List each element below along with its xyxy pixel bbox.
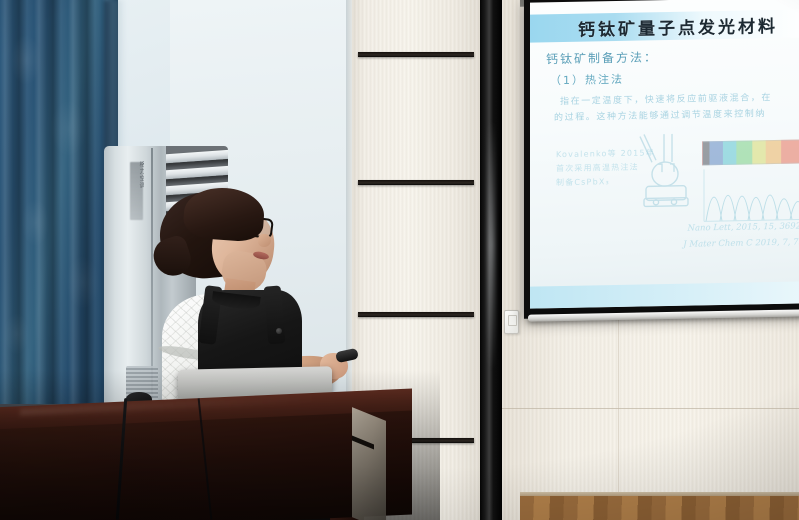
slide-footer-band	[530, 281, 799, 308]
photo-scene: 格力空调 钙钛矿量子点发光材料 钙钛矿制备	[0, 0, 799, 520]
projection-screen-frame: 钙钛矿量子点发光材料 钙钛矿制备方法： （1）热注法 指在一定温度下，快速将反应…	[524, 0, 799, 319]
door-inlay-stripe	[358, 180, 474, 185]
vent-slat	[166, 149, 228, 163]
slide-subheading: （1）热注法	[550, 71, 624, 88]
door-post-highlight	[488, 120, 495, 370]
wood-floor	[520, 496, 799, 520]
podium-side-panel	[352, 407, 386, 520]
three-neck-flask-apparatus-icon	[634, 131, 696, 214]
wall-panel-seam-horizontal	[502, 408, 799, 409]
projection-screen: 钙钛矿量子点发光材料 钙钛矿制备方法： （1）热注法 指在一定温度下，快速将反应…	[530, 0, 799, 309]
presenter-clicker[interactable]	[335, 348, 359, 363]
slide-heading: 钙钛矿制备方法：	[546, 48, 658, 67]
vent-slat	[166, 165, 228, 179]
hair-fringe	[182, 185, 265, 242]
photoluminescence-spectra-plot	[702, 165, 799, 223]
slide-reference-1: Nano Lett, 2015, 15, 3692-	[688, 221, 799, 233]
slide-body-line-1: 指在一定温度下，快速将反应前驱液混合，在	[560, 90, 772, 107]
curtain-pattern	[0, 0, 118, 428]
light-switch[interactable]	[504, 310, 519, 334]
door-inlay-stripe	[358, 312, 474, 317]
slide-title: 钙钛矿量子点发光材料	[578, 12, 778, 41]
window-curtain	[0, 0, 118, 428]
air-conditioner-brand-text: 格力空调	[129, 161, 144, 221]
door-inlay-stripe	[358, 52, 474, 57]
slide-reference-2: J Mater Chem C 2019, 7, 75	[683, 237, 799, 249]
slide-body-line-2: 的过程。这种方法能够通过调节温度来控制纳	[554, 106, 766, 123]
spectrum-photo-strip	[702, 139, 799, 165]
wall-panel-seam-vertical	[618, 300, 619, 500]
pinafore-button	[276, 328, 282, 334]
